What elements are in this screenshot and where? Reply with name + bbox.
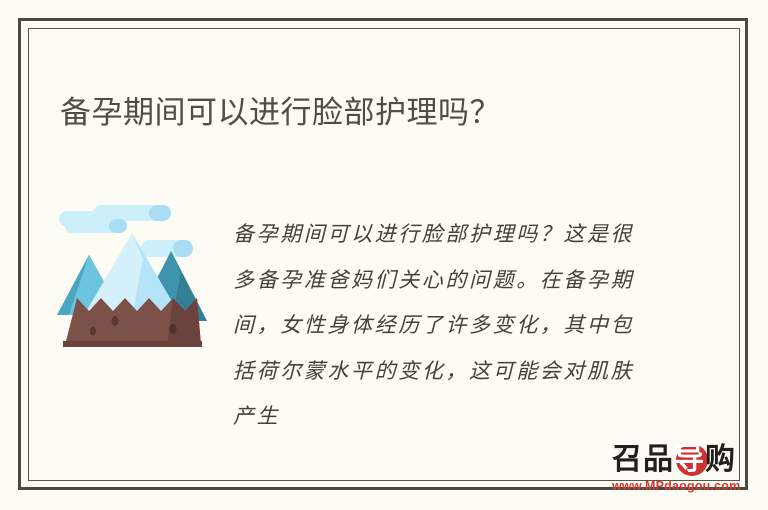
watermark: 召品导购 www.MPdaogou.com [612,442,762,500]
watermark-logo: 召品导购 [612,442,762,478]
watermark-brand-suffix: 购 [705,443,736,476]
page-title: 备孕期间可以进行脸部护理吗？ [60,91,710,135]
watermark-brand-seal-char: 导 [674,443,705,476]
mountain-illustration [55,203,210,358]
watermark-brand-prefix: 召品 [612,443,674,476]
watermark-url: www.MPdaogou.com [612,479,762,494]
article-body: 备孕期间可以进行脸部护理吗？这是很多备孕准爸妈们关心的问题。在备孕期间，女性身体… [233,212,653,440]
article-card: 备孕期间可以进行脸部护理吗？ [0,0,768,510]
base-shadow [63,341,202,347]
seal-circle-icon [676,444,708,476]
watermark-brand: 召品导购 [612,442,736,478]
